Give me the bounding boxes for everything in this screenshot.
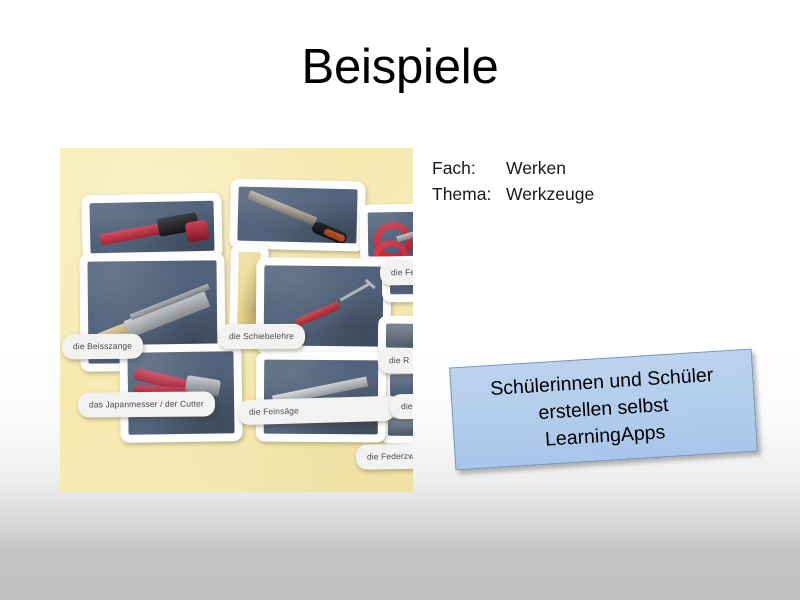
tool-scriber-hook [340, 282, 371, 301]
photo-card-scissors [360, 203, 413, 264]
photo-label-beisszange: die Beisszange [62, 334, 143, 360]
tool-scissors-ring-a [369, 217, 413, 257]
photo-thumb-right-d [388, 418, 413, 437]
photo-thumb-right-b [386, 324, 413, 349]
tool-scriber-hook-end [365, 279, 376, 289]
metadata-row-thema: Thema: Werkzeuge [432, 181, 594, 207]
metadata-list: Fach: Werken Thema: Werkzeuge [432, 155, 594, 207]
metadata-value-fach: Werken [506, 155, 566, 181]
callout-box: Schülerinnen und Schüler erstellen selbs… [449, 349, 758, 471]
photo-label-japanmesser: das Japanmesser / der Cutter [78, 391, 215, 417]
tool-file-handle [311, 220, 349, 243]
tool-file-blade [247, 190, 317, 226]
tool-cutter-grip [157, 212, 200, 237]
tool-scissors-ring-b [368, 235, 413, 257]
callout-text: Schülerinnen und Schüler erstellen selbs… [484, 362, 724, 458]
tool-cutter-body [100, 220, 179, 245]
photo-card-cutter [81, 193, 222, 262]
metadata-key-thema: Thema: [432, 181, 506, 207]
page-title: Beispiele [0, 38, 800, 96]
photo-thumb-feile [237, 187, 357, 244]
photo-thumb-scissors [368, 211, 413, 256]
slide-canvas: Beispiele Fach: Werken Thema: Werkzeuge … [0, 0, 800, 600]
photo-label-feile: die Fe [380, 259, 413, 285]
photo-label-reissnadel: die R [378, 348, 413, 374]
photo-card-feile [229, 178, 366, 251]
photo-label-schiebelehre: die Schiebelehre [218, 324, 305, 349]
tool-file-handle-accent [323, 228, 346, 243]
tool-pliers-grip-a [133, 368, 192, 393]
tool-collage-photo: die Beisszange die Schiebelehre die Fe d… [60, 148, 413, 492]
tool-scissors-blade [396, 223, 413, 242]
metadata-value-thema: Werkzeuge [506, 181, 594, 207]
photo-label-feinsaege: die Feinsäge [238, 396, 396, 425]
metadata-row-fach: Fach: Werken [432, 155, 594, 181]
metadata-key-fach: Fach: [432, 155, 506, 181]
tool-cutter-head [184, 219, 209, 243]
photo-label-federzwinge: die Federzw [356, 443, 413, 470]
photo-thumb-right-c [390, 374, 413, 397]
tool-saw-spine [130, 284, 210, 321]
photo-thumb-cutter [89, 201, 214, 254]
tool-scriber-handle [294, 301, 341, 327]
photo-label-unknown: die [390, 394, 413, 419]
tool-saw-blade [124, 290, 211, 338]
